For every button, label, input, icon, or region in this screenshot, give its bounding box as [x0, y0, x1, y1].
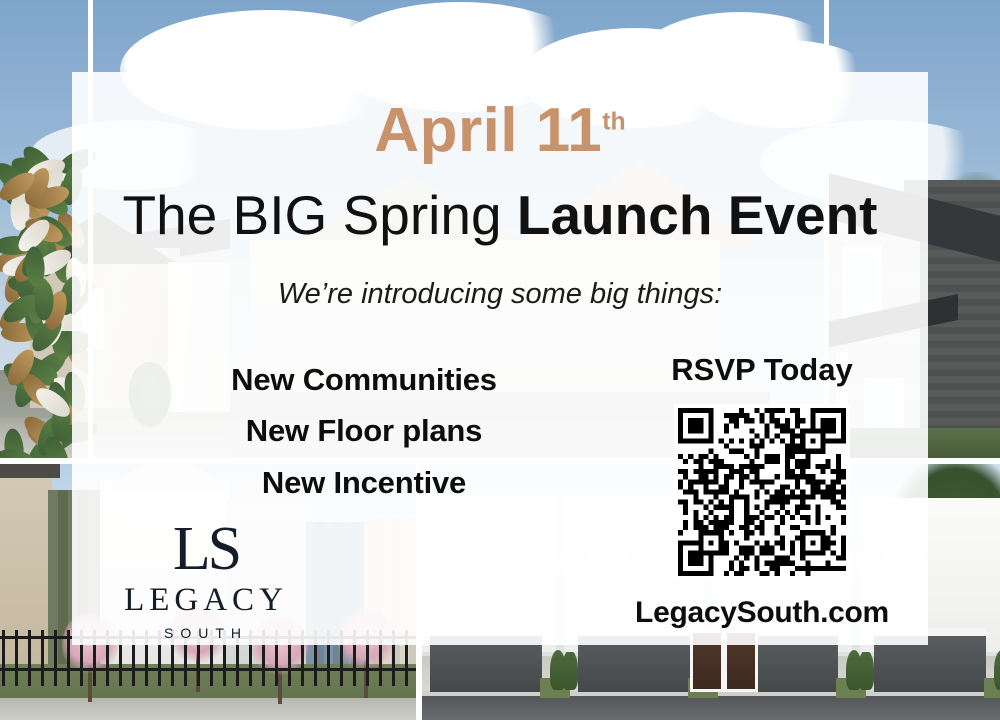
fence-post: [54, 630, 57, 686]
page-title: The BIG Spring Launch Event: [72, 188, 928, 243]
fence-post: [41, 630, 44, 686]
logo: LS LEGACY SOUTH: [96, 522, 316, 640]
website-link[interactable]: LegacySouth.com: [612, 596, 912, 630]
subheadline: We’re introducing some big things:: [72, 278, 928, 311]
logo-subname: SOUTH: [96, 626, 316, 640]
shrub-shape: [562, 650, 578, 690]
qr-code[interactable]: [674, 404, 850, 580]
content-panel: April 11th The BIG Spring Launch Event W…: [72, 72, 928, 645]
list-item: New Floor plans: [116, 405, 612, 456]
list-item: New Communities: [116, 354, 612, 405]
fence-post: [28, 630, 31, 686]
headline-bold: Launch Event: [517, 184, 878, 246]
rsvp-title: RSVP Today: [612, 354, 912, 385]
shrub-shape: [858, 650, 874, 690]
rsvp-section: RSVP Today LegacySouth.com: [612, 354, 912, 630]
poster-canvas: April 11th The BIG Spring Launch Event W…: [0, 0, 1000, 720]
headline-light: The BIG Spring: [123, 184, 517, 246]
qr-code-icon[interactable]: [678, 408, 846, 576]
event-date: April 11th: [72, 100, 928, 162]
logo-name: LEGACY: [96, 584, 316, 617]
feature-list: New Communities New Floor plans New Ince…: [116, 354, 612, 508]
logo-monogram: LS: [96, 522, 316, 578]
event-date-text: April 11: [374, 96, 602, 165]
list-item: New Incentive: [116, 457, 612, 508]
fence-post: [2, 630, 5, 686]
event-date-ordinal: th: [602, 108, 625, 135]
fence-post: [15, 630, 18, 686]
fence-post: [67, 630, 70, 686]
